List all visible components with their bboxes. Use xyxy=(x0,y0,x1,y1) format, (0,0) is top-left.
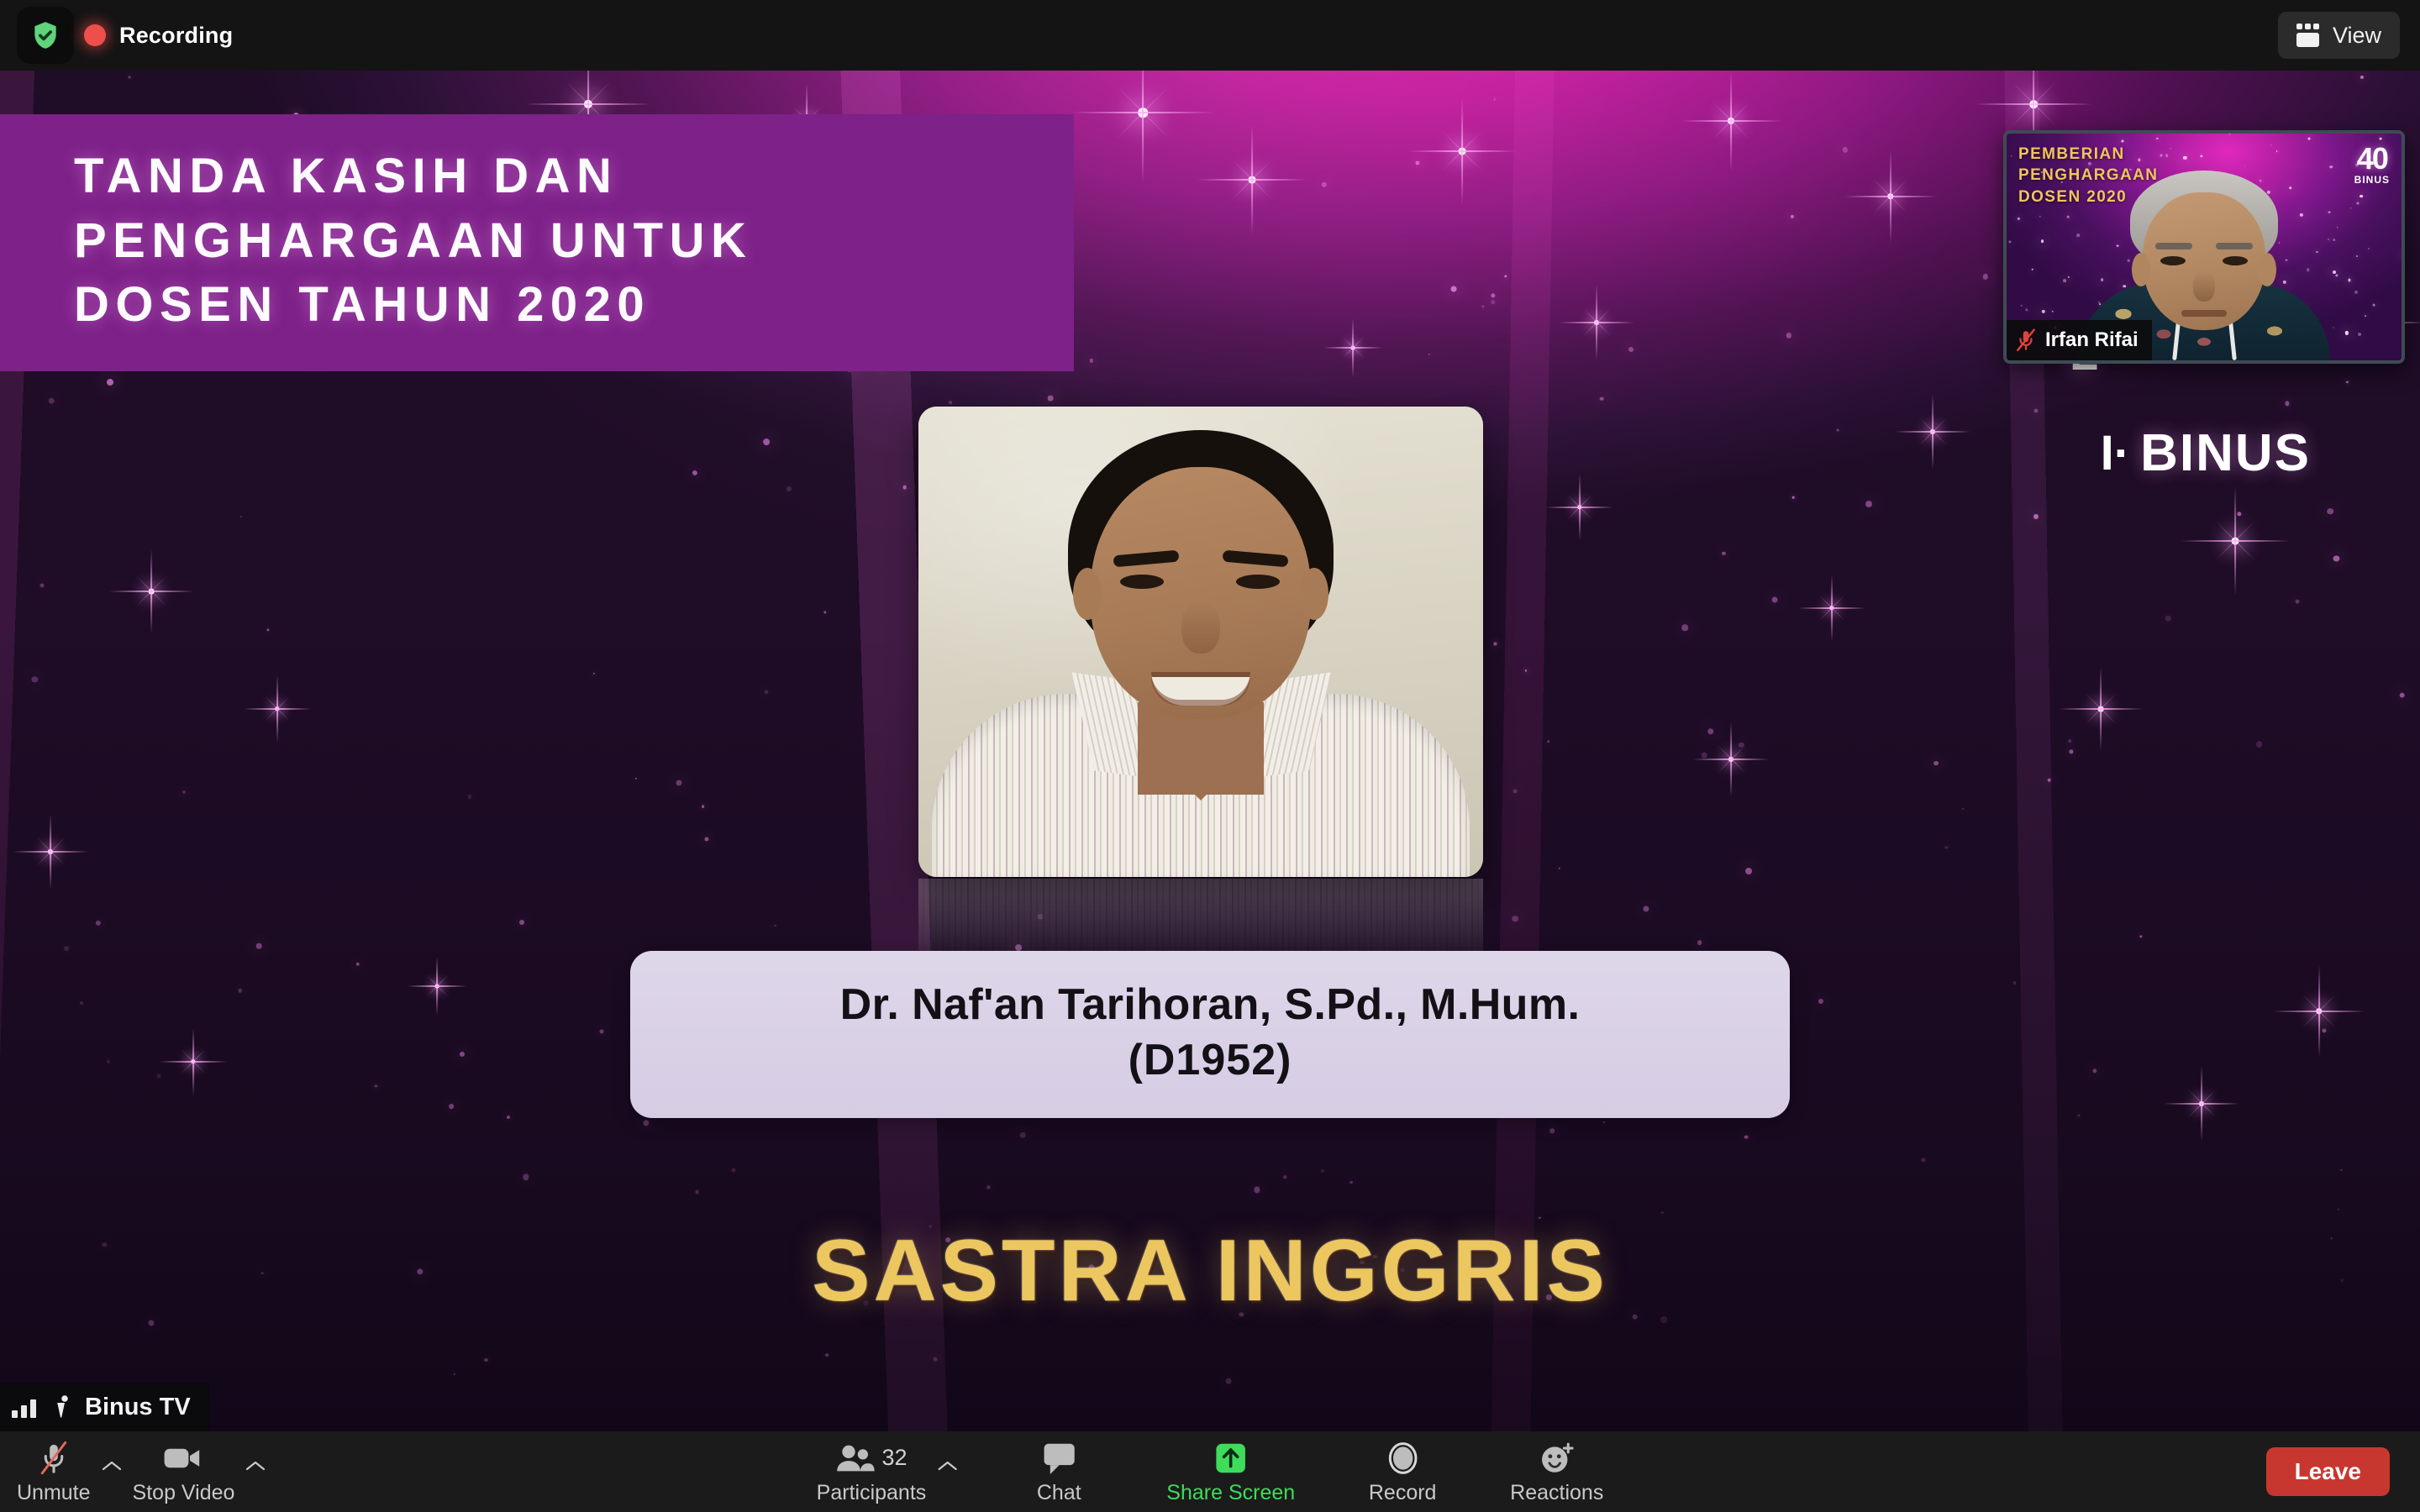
chat-bubble-icon xyxy=(1042,1441,1076,1476)
participants-button[interactable]: 32 Participants xyxy=(808,1437,935,1507)
active-speaker-label: Binus TV xyxy=(0,1383,209,1431)
stop-video-button[interactable]: Stop Video xyxy=(124,1437,244,1507)
record-label: Record xyxy=(1369,1481,1437,1505)
mic-muted-icon xyxy=(36,1441,71,1476)
record-circle-icon xyxy=(1386,1441,1419,1476)
reactions-label: Reactions xyxy=(1510,1481,1603,1505)
slide-title-banner: TANDA KASIH DAN PENGHARGAAN UNTUK DOSEN … xyxy=(0,114,1074,371)
broadcast-icon xyxy=(48,1394,73,1420)
shield-check-icon[interactable] xyxy=(17,7,74,64)
video-camera-icon xyxy=(163,1441,203,1476)
binus-40-logo-number: 40 xyxy=(2354,144,2390,174)
unmute-label: Unmute xyxy=(17,1481,91,1505)
mic-muted-icon xyxy=(2015,328,2037,352)
share-screen-label: Share Screen xyxy=(1166,1481,1295,1505)
audio-options-caret[interactable] xyxy=(99,1425,124,1506)
self-view-participant-name: Irfan Rifai xyxy=(2045,328,2139,352)
leave-button[interactable]: Leave xyxy=(2266,1447,2390,1496)
signal-bars-icon xyxy=(12,1396,36,1418)
slide-title-line-1: TANDA KASIH DAN xyxy=(0,144,1074,209)
binus-40-logo-brand: BINUS xyxy=(2354,174,2390,186)
slide-title-line-2: PENGHARGAAN UNTUK xyxy=(0,209,1074,274)
top-bar: Recording View xyxy=(0,0,2420,71)
awardee-nameplate: Dr. Naf'an Tarihoran, S.Pd., M.Hum. (D19… xyxy=(630,951,1790,1118)
awardee-id: (D1952) xyxy=(664,1033,1756,1089)
chevron-up-icon xyxy=(101,1459,123,1473)
thumbnail-caption-line-2: PENGHARGAAN xyxy=(2018,165,2158,186)
recording-dot-icon xyxy=(84,24,106,46)
slide-title-line-3: DOSEN TAHUN 2020 xyxy=(0,273,1074,338)
smiley-plus-icon xyxy=(1539,1441,1575,1476)
binus-watermark-lower: I· BINUS xyxy=(2101,423,2311,483)
awardee-department: SASTRA INGGRIS xyxy=(0,1221,2420,1321)
zoom-meeting-window: Recording View TANDA KASIH DAN PENGHARGA… xyxy=(0,0,2420,1512)
view-button-label: View xyxy=(2333,23,2381,49)
meeting-toolbar: Unmute Stop Video xyxy=(0,1431,2420,1512)
unmute-button[interactable]: Unmute xyxy=(8,1437,99,1507)
reactions-button[interactable]: Reactions xyxy=(1502,1437,1612,1507)
recording-label: Recording xyxy=(119,23,233,49)
chevron-up-icon xyxy=(936,1459,958,1473)
participants-options-caret[interactable] xyxy=(934,1425,960,1506)
recording-indicator: Recording xyxy=(84,0,233,71)
share-screen-button[interactable]: Share Screen xyxy=(1158,1437,1303,1507)
record-button[interactable]: Record xyxy=(1359,1437,1446,1507)
chevron-up-icon xyxy=(245,1459,266,1473)
view-button[interactable]: View xyxy=(2278,12,2400,59)
thumbnail-caption: PEMBERIAN PENGHARGAAN DOSEN 2020 xyxy=(2018,144,2158,207)
participants-label: Participants xyxy=(817,1481,927,1505)
awardee-photo xyxy=(918,407,1483,877)
thumbnail-caption-line-1: PEMBERIAN xyxy=(2018,144,2158,165)
self-view-name-bar: Irfan Rifai xyxy=(2007,320,2152,360)
stop-video-label: Stop Video xyxy=(133,1481,235,1505)
self-view-thumbnail[interactable]: PEMBERIAN PENGHARGAAN DOSEN 2020 40 BINU… xyxy=(2003,130,2405,364)
people-icon: 32 xyxy=(835,1441,907,1476)
video-options-caret[interactable] xyxy=(243,1425,268,1506)
thumbnail-caption-line-3: DOSEN 2020 xyxy=(2018,186,2158,207)
participants-count: 32 xyxy=(881,1445,907,1471)
binus-watermark-lower-text: BINUS xyxy=(2140,423,2311,483)
layout-grid-icon xyxy=(2296,24,2322,47)
binus-tick-icon: I· xyxy=(2101,429,2130,478)
chat-label: Chat xyxy=(1037,1481,1081,1505)
awardee-name: Dr. Naf'an Tarihoran, S.Pd., M.Hum. xyxy=(664,978,1756,1033)
chat-button[interactable]: Chat xyxy=(1015,1437,1102,1507)
awardee-portrait-frame xyxy=(918,407,1483,877)
binus-40-logo: 40 BINUS xyxy=(2354,144,2390,186)
share-screen-arrow-icon xyxy=(1215,1441,1247,1476)
active-speaker-name: Binus TV xyxy=(85,1394,191,1421)
